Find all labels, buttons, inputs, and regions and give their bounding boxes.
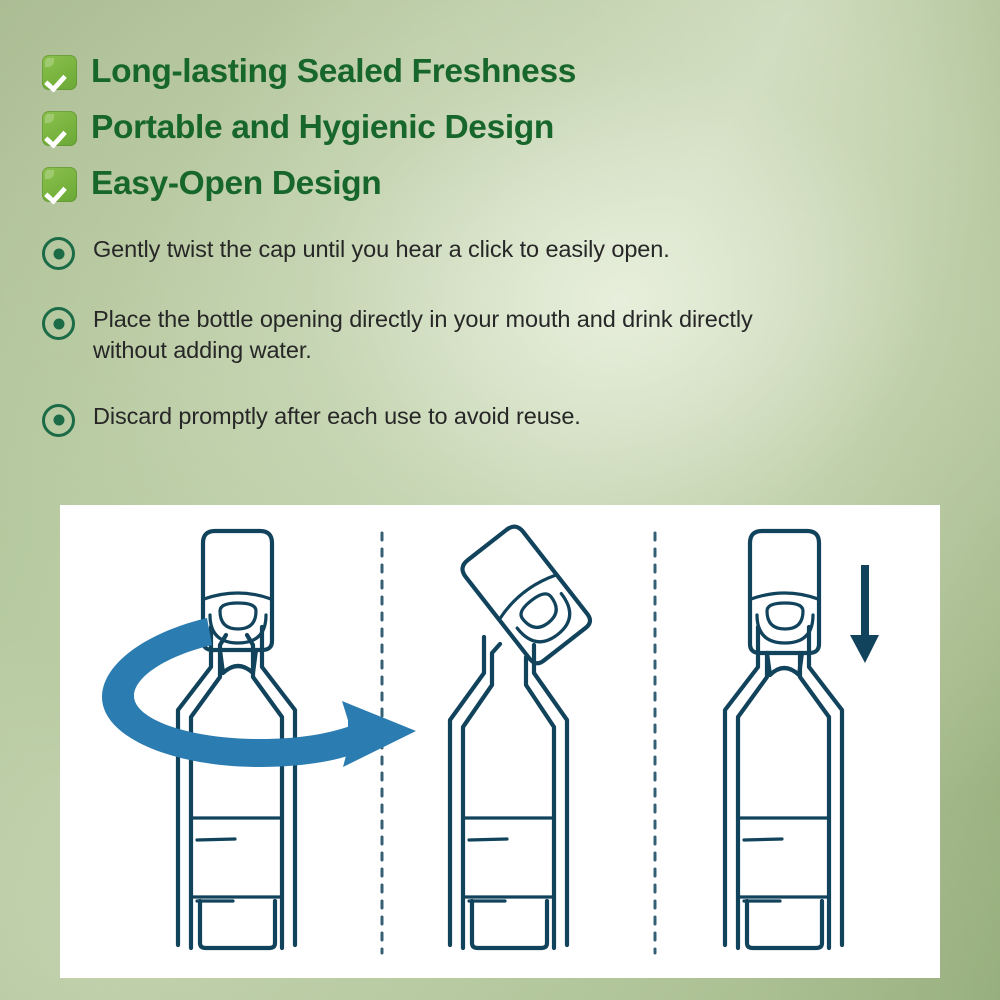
feature-heading-list: Long-lasting Sealed Freshness Portable a… — [42, 44, 922, 212]
radio-bullet-icon — [42, 307, 75, 340]
check-box-icon — [42, 111, 77, 146]
radio-bullet-icon — [42, 404, 75, 437]
twist-cap-step — [102, 531, 416, 948]
feature-heading-label: Long-lasting Sealed Freshness — [91, 55, 576, 89]
bottle-cap-3 — [750, 531, 819, 653]
down-arrow-icon — [850, 565, 879, 663]
feature-heading-row: Long-lasting Sealed Freshness — [42, 44, 922, 100]
instruction-list: Gently twist the cap until you hear a cl… — [42, 234, 842, 437]
check-box-icon — [42, 167, 77, 202]
tilted-cap-icon — [458, 523, 593, 667]
check-box-icon — [42, 55, 77, 90]
bottle-3 — [725, 627, 842, 948]
feature-heading-label: Easy-Open Design — [91, 167, 381, 201]
instruction-item: Gently twist the cap until you hear a cl… — [42, 234, 842, 270]
feature-heading-row: Portable and Hygienic Design — [42, 100, 922, 156]
illustration-svg — [60, 505, 940, 978]
feature-heading-row: Easy-Open Design — [42, 156, 922, 212]
illustration-panel — [60, 505, 940, 978]
instruction-text: Place the bottle opening directly in you… — [93, 304, 823, 367]
press-cap-step — [725, 531, 879, 948]
feature-heading-label: Portable and Hygienic Design — [91, 111, 554, 145]
instruction-item: Discard promptly after each use to avoid… — [42, 401, 842, 437]
radio-bullet-icon — [42, 237, 75, 270]
bottle-2 — [450, 637, 567, 948]
rotate-arrow-icon — [102, 618, 416, 767]
instruction-text: Discard promptly after each use to avoid… — [93, 401, 581, 432]
instruction-text: Gently twist the cap until you hear a cl… — [93, 234, 670, 265]
instruction-item: Place the bottle opening directly in you… — [42, 304, 842, 367]
bottle-1 — [178, 627, 295, 948]
bottle-cap-1 — [203, 531, 272, 673]
remove-cap-step — [450, 523, 593, 948]
